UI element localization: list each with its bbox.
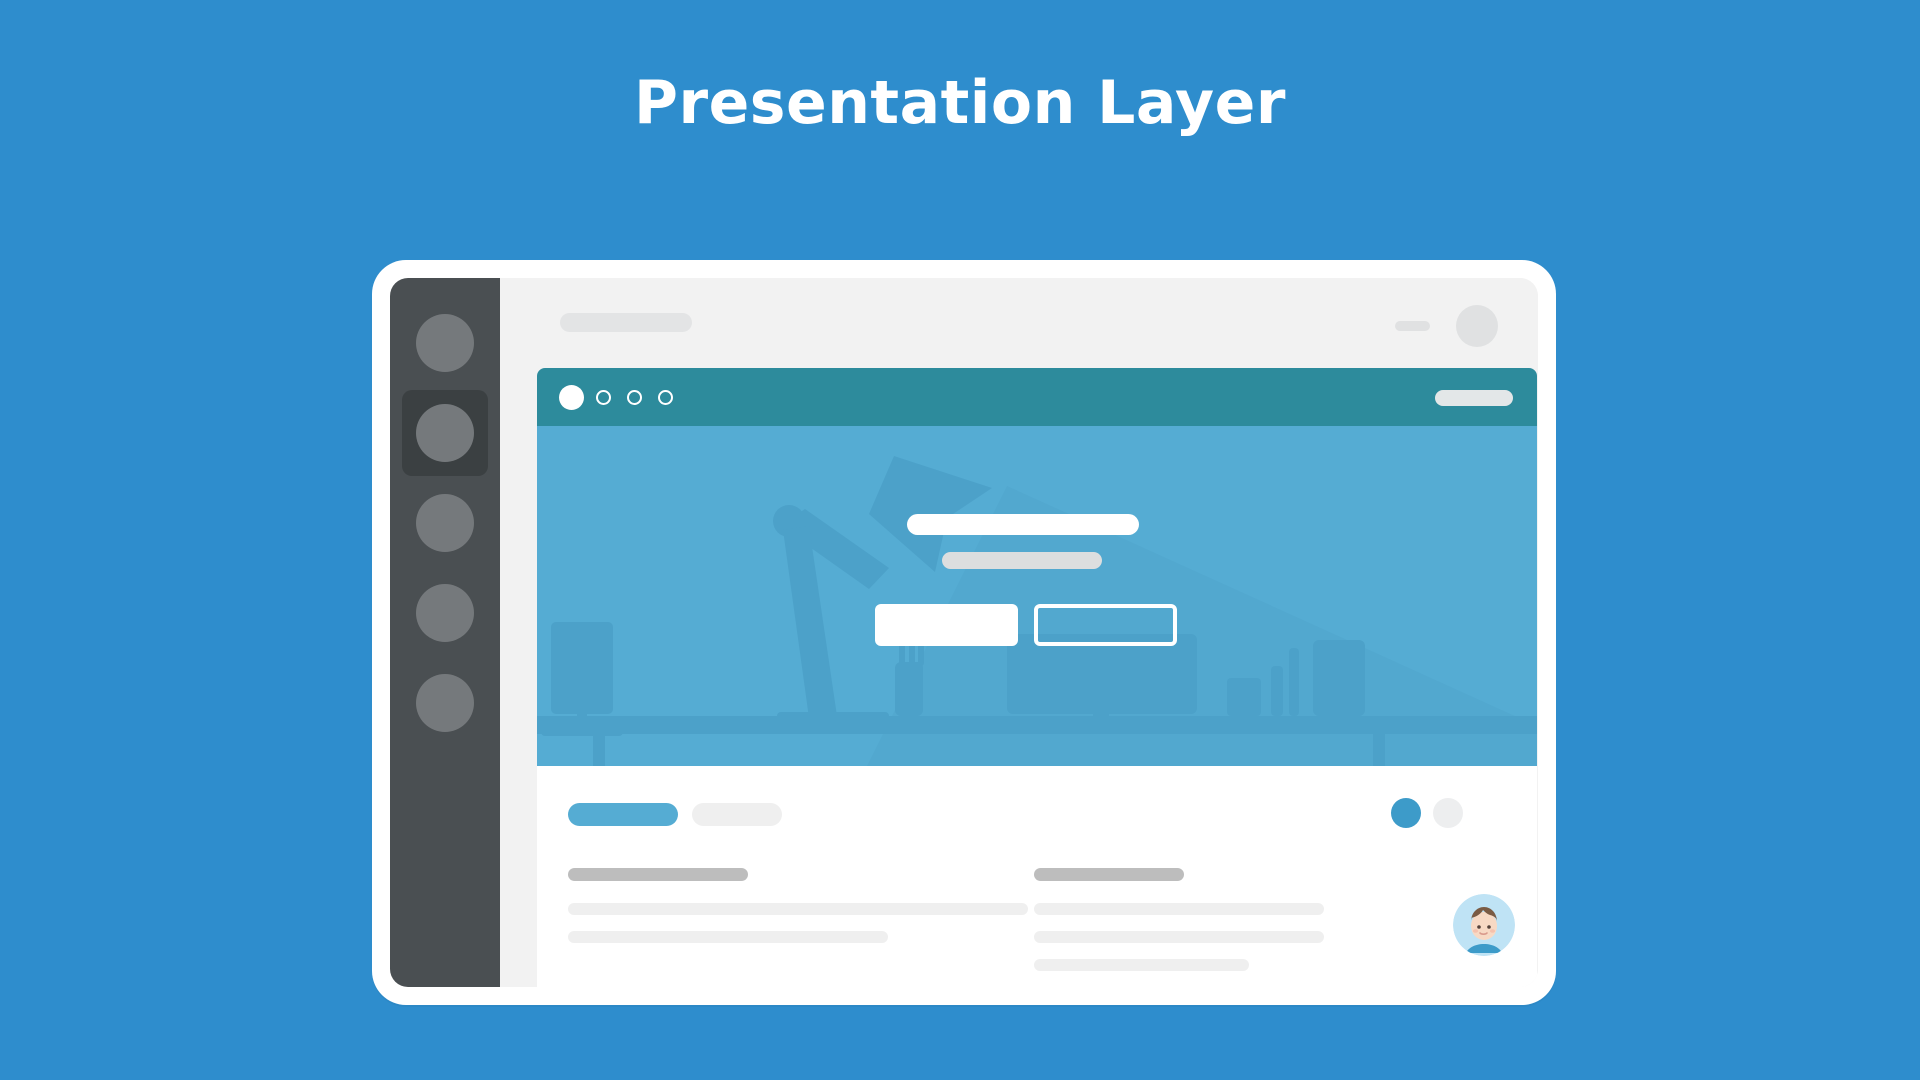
page-dot-2[interactable]	[1433, 798, 1463, 828]
text-line-placeholder	[1034, 931, 1324, 943]
browser-dot-outline-icon[interactable]	[658, 390, 673, 405]
hero-primary-button[interactable]	[875, 604, 1018, 646]
tab-1[interactable]	[568, 803, 678, 826]
user-avatar-icon[interactable]	[1453, 894, 1515, 956]
page-title: Presentation Layer	[0, 68, 1920, 138]
tablet-device-frame	[372, 260, 1556, 1005]
sidebar-item-3[interactable]	[402, 480, 488, 566]
content-column-right	[1034, 868, 1334, 987]
hero-headline-placeholder	[907, 514, 1139, 535]
sidebar-item-4[interactable]	[402, 570, 488, 656]
app-logo-placeholder	[560, 313, 692, 332]
circle-icon	[416, 494, 474, 552]
circle-icon	[416, 584, 474, 642]
app-header	[500, 278, 1538, 368]
hero-subtitle-placeholder	[942, 552, 1102, 569]
minimize-icon[interactable]	[1395, 321, 1430, 331]
text-line-placeholder	[568, 903, 1028, 915]
app-main-area	[500, 278, 1538, 987]
column-heading-placeholder	[568, 868, 748, 881]
sidebar-item-2[interactable]	[402, 390, 488, 476]
browser-titlebar	[537, 368, 1537, 426]
browser-dot-filled-icon[interactable]	[559, 385, 584, 410]
circle-icon	[416, 314, 474, 372]
column-heading-placeholder	[1034, 868, 1184, 881]
page-dot-1[interactable]	[1391, 798, 1421, 828]
circle-icon	[416, 404, 474, 462]
tablet-screen	[390, 278, 1538, 987]
sidebar-item-1[interactable]	[402, 300, 488, 386]
text-line-placeholder	[1034, 959, 1249, 971]
hero-content	[537, 426, 1537, 766]
browser-dot-outline-icon[interactable]	[596, 390, 611, 405]
avatar-icon[interactable]	[1456, 305, 1498, 347]
browser-window	[537, 368, 1537, 987]
content-column-left	[568, 868, 1028, 959]
page-content	[537, 766, 1537, 987]
text-line-placeholder	[1034, 903, 1324, 915]
sidebar-item-5[interactable]	[402, 660, 488, 746]
text-line-placeholder	[568, 931, 888, 943]
page-root: Presentation Layer	[0, 0, 1920, 1080]
browser-dot-outline-icon[interactable]	[627, 390, 642, 405]
circle-icon	[416, 674, 474, 732]
hero-secondary-button[interactable]	[1034, 604, 1177, 646]
app-sidebar	[390, 278, 500, 987]
tab-2[interactable]	[692, 803, 782, 826]
browser-address-pill[interactable]	[1435, 390, 1513, 406]
hero-banner	[537, 426, 1537, 766]
